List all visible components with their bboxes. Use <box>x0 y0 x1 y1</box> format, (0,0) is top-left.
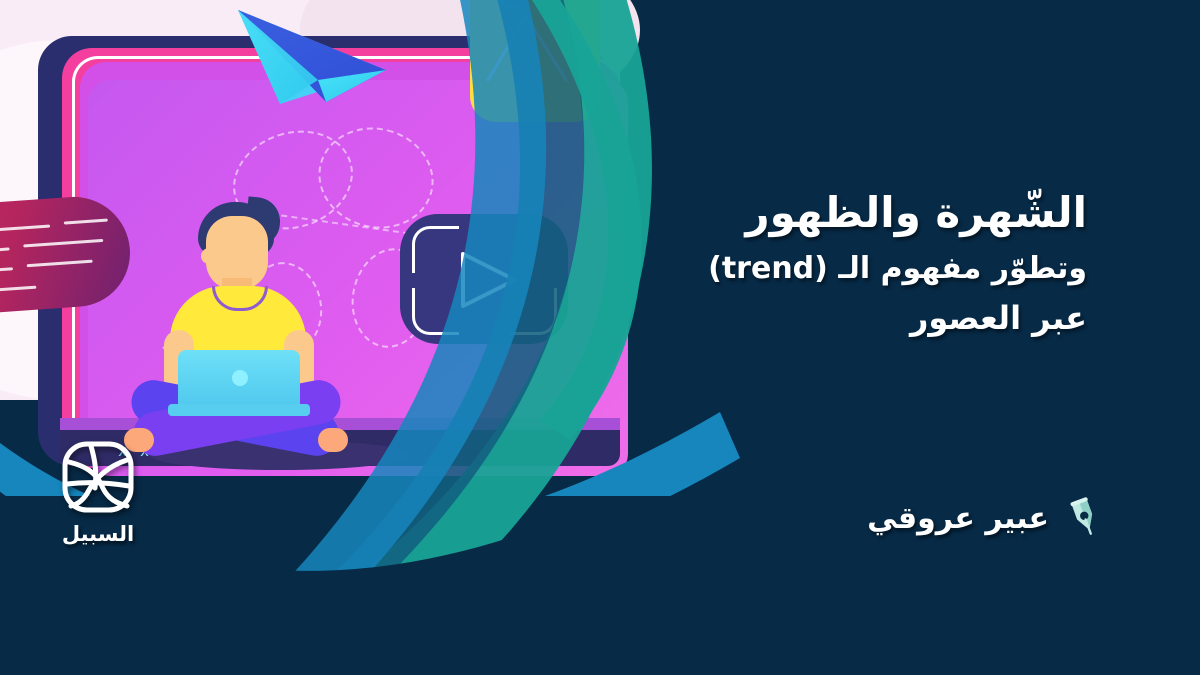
cover-canvas: x x x x ) <box>0 0 1200 675</box>
title-line-3: عبر العصور <box>527 298 1087 339</box>
path-knot-logo-icon <box>61 440 135 514</box>
pen-nib-icon <box>1063 497 1105 539</box>
title-line-2: وتطوّر مفهوم الـ (trend) <box>527 250 1087 288</box>
author-byline: عبير عروقي <box>867 497 1105 539</box>
author-name: عبير عروقي <box>867 501 1049 536</box>
title-line-1: الشّهرة والظهور <box>527 186 1087 240</box>
brand-logo: السبيل <box>38 440 158 546</box>
cover-title-block: الشّهرة والظهور وتطوّر مفهوم الـ (trend)… <box>527 186 1087 339</box>
brand-name: السبيل <box>38 522 158 546</box>
